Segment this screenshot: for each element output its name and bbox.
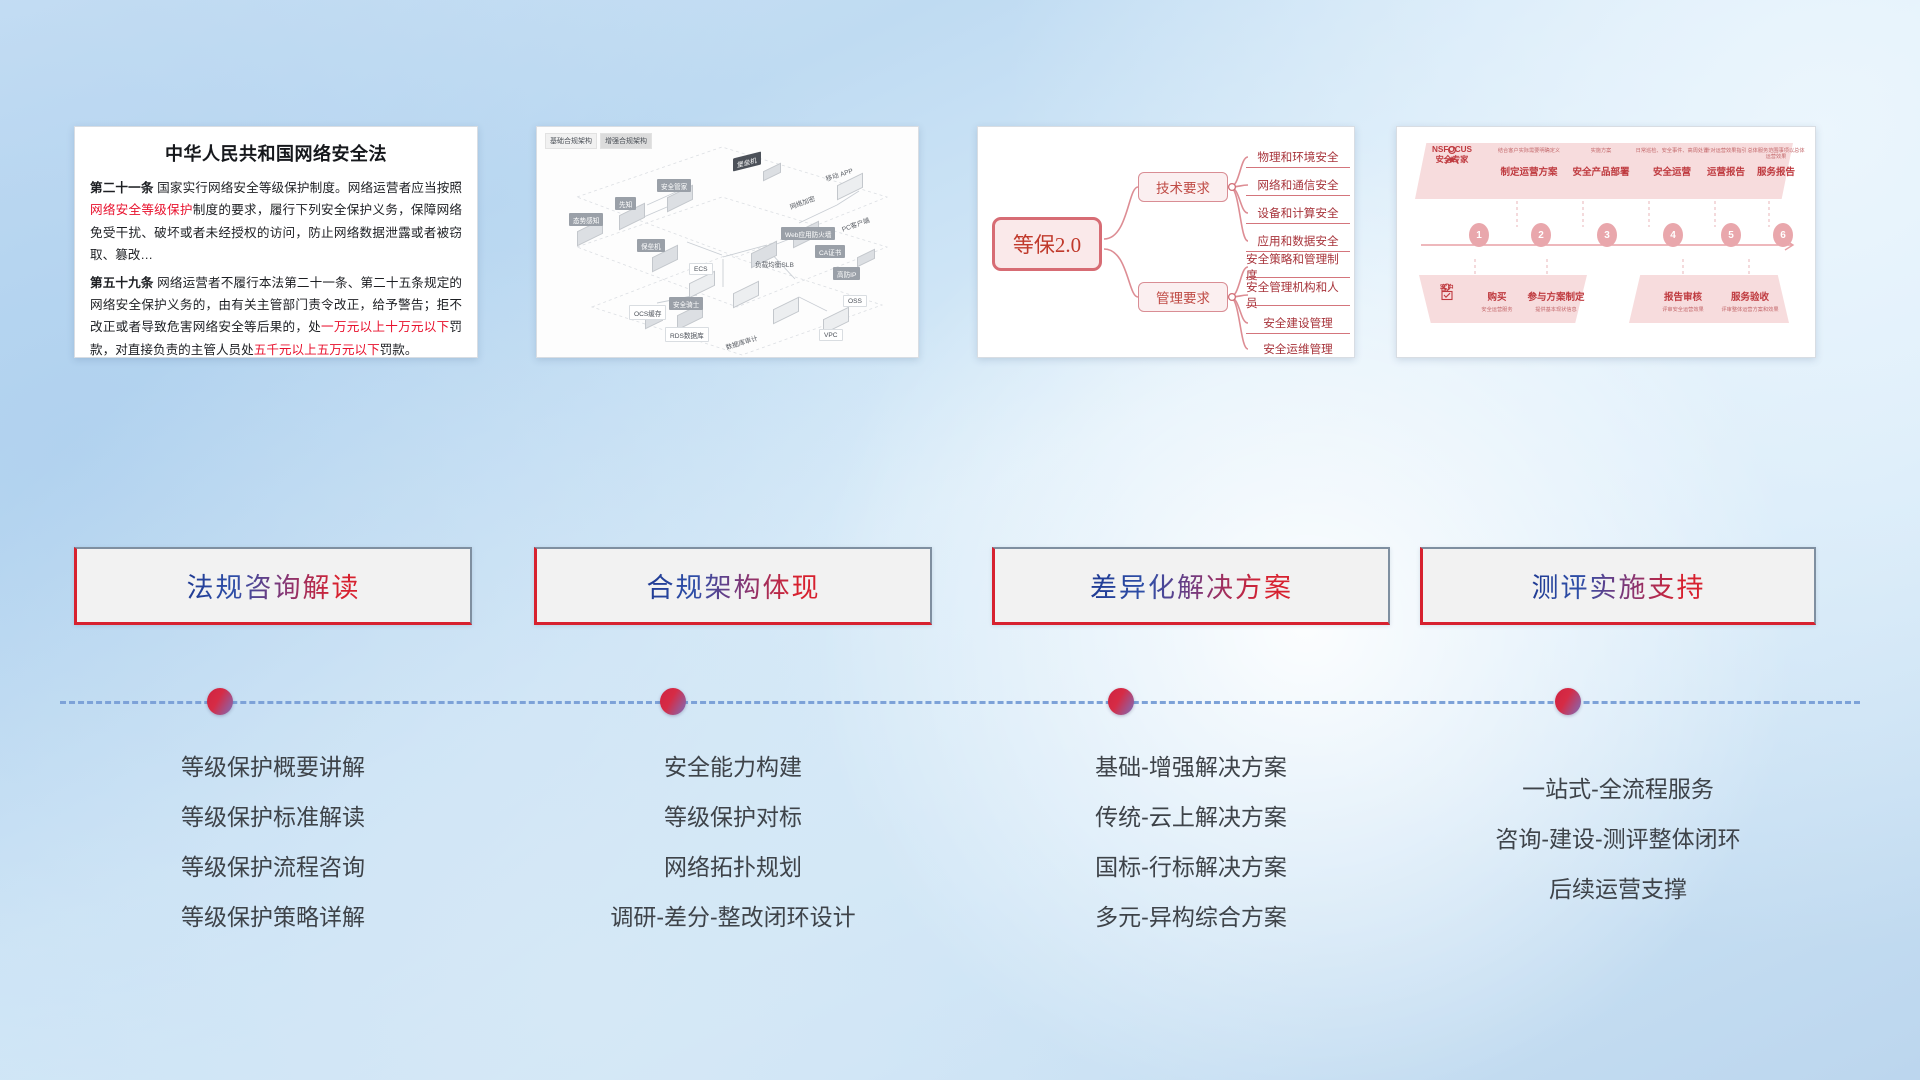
list-item: 多元-异构综合方案 — [992, 892, 1390, 942]
card-mindmap-dengbao: 等保2.0 技术要求 管理要求 物理和环境安全 网络和通信安全 设备和计算安全 … — [977, 126, 1355, 358]
timeline-dot-3 — [1108, 688, 1134, 715]
article-59-label: 第五十九条 — [90, 276, 154, 290]
mindmap-leaf-tech-3: 设备和计算安全 — [1246, 202, 1350, 224]
mindmap-leaf-mgmt-1: 安全策略和管理制度 — [1246, 256, 1350, 278]
banner-evaluation-support[interactable]: 测评实施支持 — [1420, 547, 1816, 625]
nsfocus-bottom-step-1: 购买 安全运营服务 — [1469, 289, 1525, 313]
law-article-21: 第二十一条 国家实行网络安全等级保护制度。网络运营者应当按照网络安全等级保护制度… — [90, 177, 462, 267]
article-59-text-c: 罚款。 — [380, 343, 418, 357]
nsfocus-bottom-step-2-sub: 提供基本现状信息 — [1519, 306, 1593, 313]
detail-list-row: 等级保护概要讲解 等级保护标准解读 等级保护流程咨询 等级保护策略详解 安全能力… — [0, 742, 1920, 962]
node-load-balancer-slb: 负载均衡SLB — [755, 259, 794, 269]
article-21-label: 第二十一条 — [90, 181, 154, 195]
banner-label-1: 法规咨询解读 — [187, 566, 361, 605]
nsfocus-number-3: 3 — [1597, 223, 1617, 247]
article-21-highlight: 网络安全等级保护 — [90, 203, 193, 217]
list-item: 等级保护概要讲解 — [74, 742, 472, 792]
node-ocs-cache: OCS缓存 — [629, 305, 666, 320]
law-article-59: 第五十九条 网络运营者不履行本法第二十一条、第二十五条规定的网络安全保护义务的，… — [90, 272, 462, 358]
nsfocus-number-1: 1 — [1469, 223, 1489, 247]
list-item: 安全能力构建 — [534, 742, 932, 792]
nsfocus-number-6: 6 — [1773, 223, 1793, 247]
node-vpc: VPC — [819, 329, 843, 341]
image-card-row: 中华人民共和国网络安全法 第二十一条 国家实行网络安全等级保护制度。网络运营者应… — [0, 126, 1920, 366]
list-item: 国标-行标解决方案 — [992, 842, 1390, 892]
node-oss: OSS — [843, 295, 867, 307]
detail-list-2: 安全能力构建 等级保护对标 网络拓扑规划 调研-差分-整改闭环设计 — [534, 742, 932, 942]
nsfocus-bottom-step-2: 参与方案制定 提供基本现状信息 — [1519, 289, 1593, 313]
card-cybersecurity-law: 中华人民共和国网络安全法 第二十一条 国家实行网络安全等级保护制度。网络运营者应… — [74, 126, 478, 358]
mindmap-branch-technical: 技术要求 — [1138, 172, 1228, 202]
timeline-dashed-line — [60, 701, 1860, 704]
list-item: 传统-云上解决方案 — [992, 792, 1390, 842]
nsfocus-bottom-step-4-main: 服务验收 — [1713, 289, 1787, 303]
nsfocus-bottom-step-1-sub: 安全运营服务 — [1469, 306, 1525, 313]
nsfocus-number-4: 4 — [1663, 223, 1683, 247]
list-item: 等级保护对标 — [534, 792, 932, 842]
mindmap-leaf-tech-4: 应用和数据安全 — [1246, 230, 1350, 252]
mindmap-leaf-mgmt-2: 安全管理机构和人员 — [1246, 284, 1350, 306]
architecture-diagram: 基础合规架构 增强合规架构 — [537, 127, 918, 357]
card-compliance-architecture: 基础合规架构 增强合规架构 — [536, 126, 919, 358]
nsfocus-bottom-step-3-sub: 评审安全运营效果 — [1647, 306, 1719, 313]
slide-stage: 中华人民共和国网络安全法 第二十一条 国家实行网络安全等级保护制度。网络运营者应… — [0, 0, 1920, 1080]
mindmap-leaf-tech-1: 物理和环境安全 — [1246, 146, 1350, 168]
nsfocus-number-2: 2 — [1531, 223, 1551, 247]
article-59-highlight-b: 五千元以上五万元以下 — [254, 343, 380, 357]
nsfocus-bottom-step-4: 服务验收 评审整体运营方案和效果 — [1713, 289, 1787, 313]
node-web-application-firewall: Web应用防火墙 — [781, 227, 835, 240]
customer-person-icon — [1439, 283, 1455, 301]
card-nsfocus-timeline: NSFOCUS 安全专家 结合客户实际需要明确定义 制定运营方案 实施方案 安全… — [1396, 126, 1816, 358]
banner-label-3: 差异化解决方案 — [1090, 566, 1293, 605]
node-ecs: ECS — [689, 263, 713, 275]
detail-list-3: 基础-增强解决方案 传统-云上解决方案 国标-行标解决方案 多元-异构综合方案 — [992, 742, 1390, 942]
nsfocus-bottom-step-4-sub: 评审整体运营方案和效果 — [1713, 306, 1787, 313]
list-item: 等级保护标准解读 — [74, 792, 472, 842]
nsfocus-customer: 客户 — [1427, 283, 1467, 293]
node-ca-certificate: CA证书 — [815, 245, 845, 258]
list-item: 网络拓扑规划 — [534, 842, 932, 892]
nsfocus-number-5: 5 — [1721, 223, 1741, 247]
node-security-butler: 安全管家 — [657, 179, 691, 192]
timeline-dot-4 — [1555, 688, 1581, 715]
mindmap-leaf-mgmt-4: 安全运维管理 — [1246, 338, 1350, 358]
nsfocus-bottom-step-3: 报告审核 评审安全运营效果 — [1647, 289, 1719, 313]
list-item: 调研-差分-整改闭环设计 — [534, 892, 932, 942]
law-title: 中华人民共和国网络安全法 — [90, 140, 462, 166]
list-item: 一站式-全流程服务 — [1420, 764, 1816, 814]
timeline-dot-1 — [207, 688, 233, 715]
banner-label-4: 测评实施支持 — [1532, 566, 1706, 605]
node-xianzhi: 先知 — [615, 197, 636, 210]
node-bastion: 保垒机 — [637, 239, 665, 252]
node-anti-ddos-ip: 高防IP — [833, 267, 860, 280]
mindmap-leaf-mgmt-3: 安全建设管理 — [1246, 312, 1350, 334]
timeline — [60, 682, 1860, 722]
mindmap-leaf-tech-2: 网络和通信安全 — [1246, 174, 1350, 196]
article-21-text-a: 国家实行网络安全等级保护制度。网络运营者应当按照 — [154, 181, 462, 195]
article-59-highlight-a: 一万元以上十万元以下 — [321, 320, 449, 334]
law-document: 中华人民共和国网络安全法 第二十一条 国家实行网络安全等级保护制度。网络运营者应… — [75, 127, 477, 358]
list-item: 等级保护策略详解 — [74, 892, 472, 942]
list-item: 咨询-建设-测评整体闭环 — [1420, 814, 1816, 864]
list-item: 等级保护流程咨询 — [74, 842, 472, 892]
nsfocus-bottom-step-1-main: 购买 — [1469, 289, 1525, 303]
banner-label-2: 合规架构体现 — [647, 566, 821, 605]
nsfocus-process-diagram: NSFOCUS 安全专家 结合客户实际需要明确定义 制定运营方案 实施方案 安全… — [1397, 127, 1815, 357]
mindmap-branch-management: 管理要求 — [1138, 282, 1228, 312]
detail-list-4: 一站式-全流程服务 咨询-建设-测评整体闭环 后续运营支撑 — [1420, 764, 1816, 914]
banner-compliance-architecture[interactable]: 合规架构体现 — [534, 547, 932, 625]
banner-differentiated-solution[interactable]: 差异化解决方案 — [992, 547, 1390, 625]
mindmap: 等保2.0 技术要求 管理要求 物理和环境安全 网络和通信安全 设备和计算安全 … — [978, 127, 1354, 357]
detail-list-1: 等级保护概要讲解 等级保护标准解读 等级保护流程咨询 等级保护策略详解 — [74, 742, 472, 942]
timeline-dot-2 — [660, 688, 686, 715]
architecture-connectors — [537, 127, 919, 358]
nsfocus-bottom-step-2-main: 参与方案制定 — [1519, 289, 1593, 303]
node-security-knight: 安全骑士 — [669, 297, 703, 310]
mindmap-root-node: 等保2.0 — [992, 217, 1102, 271]
banner-row: 法规咨询解读 合规架构体现 差异化解决方案 测评实施支持 — [0, 547, 1920, 627]
nsfocus-bottom-step-3-main: 报告审核 — [1647, 289, 1719, 303]
node-situation-awareness: 态势感知 — [569, 213, 603, 226]
banner-regulation-consulting[interactable]: 法规咨询解读 — [74, 547, 472, 625]
list-item: 后续运营支撑 — [1420, 864, 1816, 914]
nsfocus-step-numbers: 1 2 3 4 5 6 — [1421, 223, 1793, 257]
list-item: 基础-增强解决方案 — [992, 742, 1390, 792]
node-rds-database: RDS数据库 — [665, 327, 709, 342]
